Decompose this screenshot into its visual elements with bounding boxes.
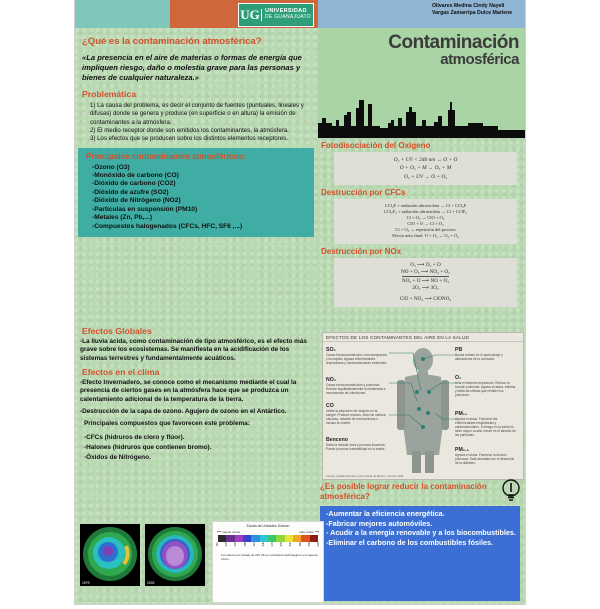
list-item: -Dióxido de azufre (SO2) <box>92 189 308 197</box>
page-title: Contaminación atmosférica <box>388 34 519 67</box>
equation: O₃ + UV → O + O₂ <box>336 173 515 181</box>
human-body-diagram <box>395 347 451 473</box>
contaminantes-box: Principales contaminantes atmosféricos: … <box>78 148 314 238</box>
compuestos-item: -CFCs (hidruros de cloro y flúor). <box>84 434 312 442</box>
tick: 520 <box>317 542 320 546</box>
university-name: UNIVERSIDAD DE GUANAJUATO <box>261 9 313 20</box>
ozone-legend-ticks: 110 220 250 280 310 340 370 400 430 460 … <box>216 542 320 546</box>
ozone-legend-note: Los valores por debajo de 220 UD se cons… <box>221 554 319 562</box>
university-logo: UG UNIVERSIDAD DE GUANAJUATO <box>238 3 314 27</box>
problematica-item: 1) La causa del problema, es decir el co… <box>90 102 308 126</box>
university-name-line2: DE GUANAJUATO <box>265 15 313 20</box>
contaminantes-heading: Principales contaminantes atmosféricos: <box>86 152 308 161</box>
compuestos-intro: Principales compuestos que favorecen est… <box>84 420 312 428</box>
legend-arrow-right: más ozono ⟶ <box>299 530 319 534</box>
efectos-globales-heading: Efectos Globales <box>82 326 314 336</box>
compuestos-item: -Halones (hidruros que contienen bromo). <box>84 444 312 452</box>
health-effects-infographic: EFECTOS DE LOS CONTAMINANTES DEL AIRE EN… <box>322 332 524 480</box>
health-label-desc: Causa retraso en el aprendizaje y altera… <box>455 353 517 361</box>
equation: ClO + NO₂ ⟶ ClONO₂ <box>336 296 515 303</box>
reduction-question: ¿Es posible lograr reducir la contaminac… <box>320 482 495 502</box>
contaminantes-list: -Ozono (O3) -Monóxido de carbono (CO) -D… <box>86 164 308 232</box>
list-item: -Dióxido de carbono (CO2) <box>92 180 308 188</box>
tick: 490 <box>308 542 311 546</box>
list-item: -Dióxido de Nitrógeno (NO2) <box>92 197 308 205</box>
answer-item: - Acudir a la energía renovable y a los … <box>326 528 516 538</box>
ozone-map-caption: 1979 <box>82 581 90 585</box>
left-column-lower: Efectos Globales -La lluvia ácida, como … <box>78 326 314 465</box>
ozone-map-image <box>80 524 140 586</box>
list-item: -Compuestos halogenados (CFCs, HFC, SF6 … <box>92 223 308 231</box>
tick: 370 <box>271 542 274 546</box>
nox-equations: O₃ ⟶ O₂ + O NO + O₃ ⟶ NO₂ + O₂ NO₂ + O ⟶… <box>334 258 517 307</box>
health-label-pm10: PM₁₀ Agrava el asma. Favorece las enferm… <box>455 411 517 437</box>
health-label-pm25: PM₂.₅ Agrava el asma. Favorece la funció… <box>455 447 517 465</box>
efectos-globales-text: -La lluvia ácida, como contaminación de … <box>80 338 312 363</box>
health-label-desc: Agrava el asma. Favorece la función pulm… <box>455 453 517 465</box>
nox-heading: Destrucción por NOx <box>321 247 525 256</box>
health-label-so2: SO₂ Causa broncoconstricción, broncoespa… <box>326 347 388 365</box>
answer-item: -Eliminar el carbono de los combustibles… <box>326 538 516 548</box>
tick: 430 <box>289 542 292 546</box>
answer-item: -Fabricar mejores automóviles. <box>326 519 516 529</box>
tick: 280 <box>244 542 247 546</box>
fotodisociacion-equations: O₂ + UV < 240 nm → O + O O + O₂ + M → O₃… <box>334 152 517 185</box>
tick: 460 <box>299 542 302 546</box>
ozone-legend: Escala de Unidades Dobson ⟵ menos ozono … <box>212 521 324 603</box>
tick: 310 <box>253 542 256 546</box>
poster-canvas: UG UNIVERSIDAD DE GUANAJUATO Olivares Me… <box>0 0 600 609</box>
city-skyline-icon <box>318 90 525 138</box>
answer-item: -Aumentar la eficiencia energética. <box>326 509 516 519</box>
ozone-map-2002: 2002 <box>145 524 205 586</box>
list-item: -Partículas en suspensión (PM10) <box>92 206 308 214</box>
equation-text: NO₂ + O ⟶ NO + O₂ <box>402 276 449 285</box>
equation: NO + O₃ ⟶ NO₂ + O₂ <box>336 269 515 276</box>
equation: Efecto neto final: O + O₃ → O₂ + O₂ <box>336 233 515 239</box>
tick: 400 <box>280 542 283 546</box>
health-infographic-title: EFECTOS DE LOS CONTAMINANTES DEL AIRE EN… <box>323 333 523 342</box>
ozone-legend-arrows: ⟵ menos ozono más ozono ⟶ <box>213 528 323 534</box>
page-title-line1: Contaminación <box>388 32 519 53</box>
tick: 220 <box>225 542 228 546</box>
tick: 340 <box>262 542 265 546</box>
ozone-map-1979: 1979 <box>80 524 140 586</box>
page-title-line2: atmosférica <box>388 53 519 67</box>
efectos-clima-heading: Efectos en el clima <box>82 367 314 377</box>
lightbulb-icon <box>500 478 522 504</box>
efectos-clima-text-2: -Destrucción de la capa de ozono. Agujer… <box>80 408 312 416</box>
health-label-pb: PB Causa retraso en el aprendizaje y alt… <box>455 347 517 361</box>
definition-heading: ¿Qué es la contaminación atmosférica? <box>82 36 314 48</box>
health-label-desc: Daña la médula ósea y provoca leucemia. … <box>326 443 388 451</box>
equation: O₂ + UV < 240 nm → O + O <box>336 156 515 164</box>
problematica-item: 3) Los efectos que se producen sobre los… <box>90 135 308 143</box>
definition-quote: «La presencia en el aire de materias o f… <box>82 53 310 83</box>
health-label-benceno: Benceno Daña la médula ósea y provoca le… <box>326 437 388 451</box>
health-label-no2: NO₂ Causa broncoconstricción y pulmonía.… <box>326 377 388 395</box>
health-label-desc: Agrava el asma. Favorece las enfermedade… <box>455 417 517 437</box>
compuestos-item: -Óxidos de Nitrógeno. <box>84 454 312 462</box>
authors-list: Olivares Medina Cindy Nayeli Vargas Zama… <box>432 3 527 17</box>
list-item: -Monóxido de carbono (CO) <box>92 172 308 180</box>
ozone-map-caption: 2002 <box>147 581 155 585</box>
cfc-heading: Destrucción por CFCs <box>321 188 525 197</box>
cfc-equations: CCl₃F + radiación ultravioleta → Cl + CC… <box>334 199 517 243</box>
efectos-clima-text-1: -Efecto Invernadero, se conoce como el m… <box>80 379 312 404</box>
health-label-o3: O₃ Irrita el sistema respiratorio. Reduc… <box>455 375 517 397</box>
ozone-color-scale <box>218 535 318 542</box>
reduction-answers-box: -Aumentar la eficiencia energética. -Fab… <box>320 506 520 601</box>
health-label-desc: Causa broncoconstricción y pulmonía. Red… <box>326 383 388 395</box>
header-band-orange <box>170 0 230 28</box>
equation: 2O₃ ⟶ 3O₂ <box>336 285 515 292</box>
health-label-co: CO Inhibe la absorción de oxígeno en la … <box>326 403 388 425</box>
list-item: -Metales (Zn, Pb,...) <box>92 214 308 222</box>
list-item: -Ozono (O3) <box>92 164 308 172</box>
hero-banner: Contaminación atmosférica <box>318 28 525 138</box>
health-label-desc: Irrita el sistema respiratorio. Reduce l… <box>455 381 517 397</box>
tick: 250 <box>234 542 237 546</box>
equation: O₃ ⟶ O₂ + O <box>336 262 515 269</box>
tick: 110 <box>216 542 219 546</box>
ozone-map-image <box>145 524 205 586</box>
right-column: Fotodisociación del Oxígeno O₂ + UV < 24… <box>318 138 525 307</box>
health-label-desc: Inhibe la absorción de oxígeno en la san… <box>326 409 388 425</box>
legend-arrow-left: ⟵ menos ozono <box>217 530 240 534</box>
fotodisociacion-heading: Fotodisociación del Oxígeno <box>321 141 525 150</box>
health-infographic-source: Fuente: Calidad del aire en la Ciudad de… <box>326 474 404 478</box>
ug-monogram-icon: UG <box>239 4 261 26</box>
equation: O + O₂ + M → O₃ + M <box>336 164 515 172</box>
left-column: ¿Qué es la contaminación atmosférica? «L… <box>78 32 314 237</box>
health-label-desc: Causa broncoconstricción, broncoespasmo … <box>326 353 388 365</box>
header-band-teal <box>75 0 170 28</box>
problematica-item: 2) El medio receptor donde son emitidos … <box>90 127 308 135</box>
problematica-heading: Problemática <box>82 89 314 99</box>
equation: NO₂ + O ⟶ NO + O₂ <box>336 276 515 285</box>
